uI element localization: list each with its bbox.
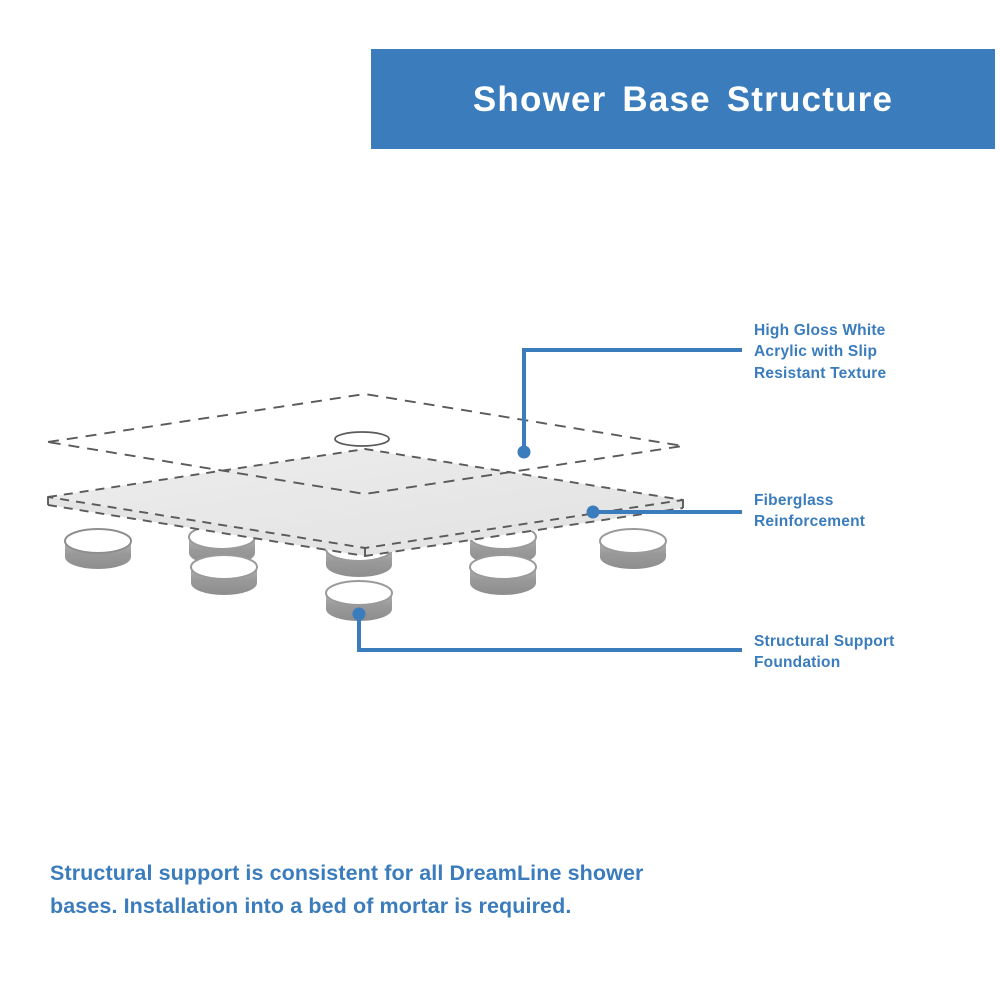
callout-fiberglass-label: Fiberglass Reinforcement: [754, 490, 984, 533]
page-title: Shower Base Structure: [473, 82, 893, 117]
callout-acrylic-label: High Gloss White Acrylic with Slip Resis…: [754, 320, 984, 384]
callout-foundation-label: Structural Support Foundation: [754, 631, 984, 674]
footer-caption: Structural support is consistent for all…: [50, 857, 670, 922]
fiberglass-reinforcement-layer: [48, 449, 683, 556]
support-ring: [600, 529, 666, 569]
support-ring: [470, 555, 536, 595]
leader-dot-acrylic: [518, 446, 531, 459]
support-ring: [191, 555, 257, 595]
header-banner: Shower Base Structure: [371, 49, 995, 149]
support-ring: [65, 529, 131, 569]
drain-opening: [335, 432, 389, 446]
leader-dot-fiberglass: [587, 506, 600, 519]
leader-dot-foundation: [353, 608, 366, 621]
page-canvas: Shower Base Structure: [0, 0, 1000, 1000]
